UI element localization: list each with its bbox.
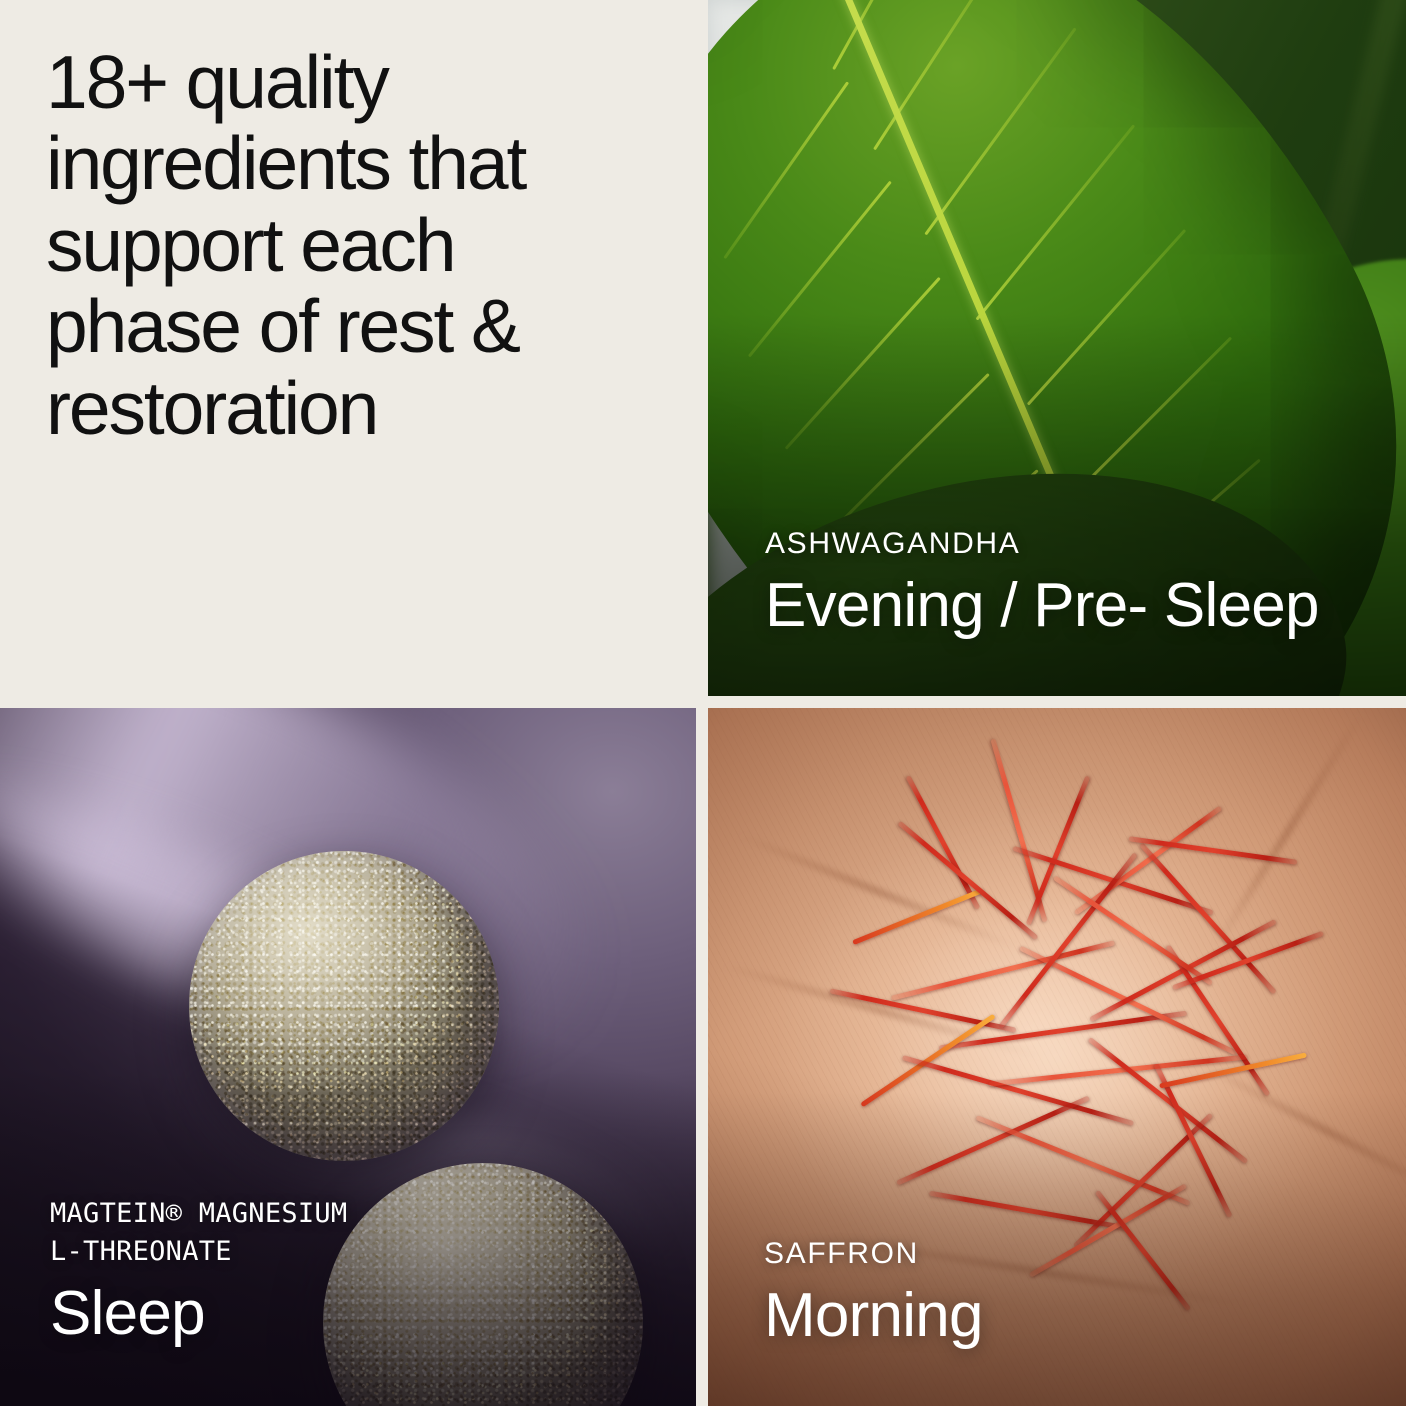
caption-magtein: MAGTEIN® MAGNESIUM L-THREONATE Sleep (50, 1195, 347, 1348)
ingredient-phase-magtein: Sleep (50, 1280, 347, 1348)
ingredient-tile-magtein[interactable]: MAGTEIN® MAGNESIUM L-THREONATE Sleep (0, 708, 696, 1406)
caption-saffron: SAFFRON Morning (764, 1235, 983, 1350)
ingredient-tile-ashwagandha[interactable]: ASHWAGANDHA Evening / Pre- Sleep (708, 0, 1406, 696)
caption-ashwagandha: ASHWAGANDHA Evening / Pre- Sleep (765, 525, 1319, 640)
ingredient-name-ashwagandha: ASHWAGANDHA (765, 525, 1319, 563)
headline-panel: 18+ quality ingredients that support eac… (0, 0, 696, 696)
ingredient-phase-ashwagandha: Evening / Pre- Sleep (765, 572, 1319, 640)
ingredient-name-saffron: SAFFRON (764, 1235, 983, 1273)
page-title: 18+ quality ingredients that support eac… (46, 42, 636, 449)
ingredient-phase-saffron: Morning (764, 1282, 983, 1350)
ingredients-grid: 18+ quality ingredients that support eac… (0, 0, 1406, 1406)
ingredient-name-magtein: MAGTEIN® MAGNESIUM L-THREONATE (50, 1195, 347, 1272)
ingredient-tile-saffron[interactable]: SAFFRON Morning (708, 708, 1406, 1406)
